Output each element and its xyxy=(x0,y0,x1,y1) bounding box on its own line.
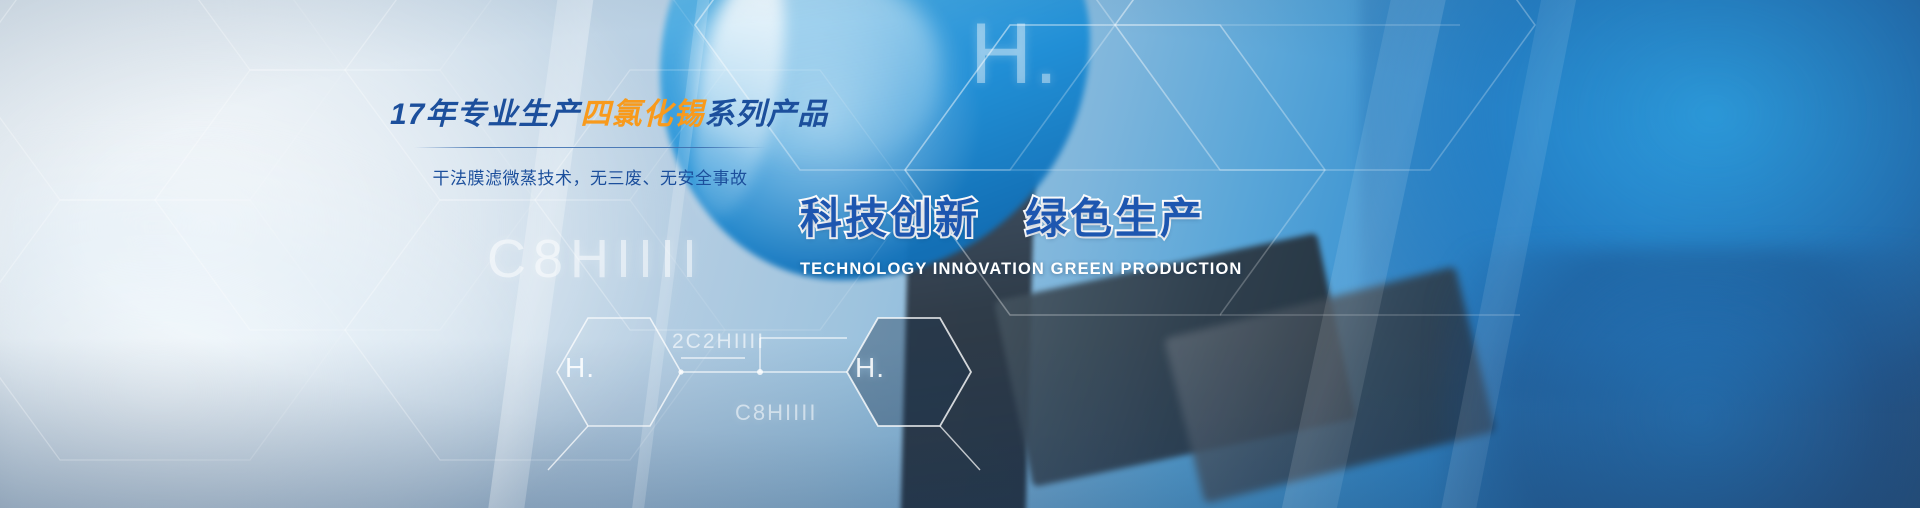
left-text-block: 17年专业生产四氯化锡系列产品 干法膜滤微蒸技术，无三废、无安全事故 xyxy=(390,96,790,189)
right-slogan-block: 科技创新 绿色生产 TECHNOLOGY INNOVATION GREEN PR… xyxy=(800,185,1190,279)
headline-divider xyxy=(414,147,766,148)
headline: 17年专业生产四氯化锡系列产品 xyxy=(390,96,790,134)
headline-prefix: 17年专业生产 xyxy=(390,98,580,131)
hex-node-left-label: H. xyxy=(565,352,595,384)
headline-suffix: 系列产品 xyxy=(704,98,828,131)
headline-subtitle: 干法膜滤微蒸技术，无三废、无安全事故 xyxy=(390,164,790,189)
promo-banner: H. C8HIIII 2C2HIIII C8HIIII H. H. 17年专业生… xyxy=(0,0,1920,508)
slogan-english: TECHNOLOGY INNOVATION GREEN PRODUCTION xyxy=(800,260,1190,279)
slogan-chinese: 科技创新 绿色生产 xyxy=(800,185,1190,246)
hexagon-outline xyxy=(0,0,915,460)
hex-node-right-label: H. xyxy=(855,352,885,384)
headline-product-highlight: 四氯化锡 xyxy=(580,98,704,131)
